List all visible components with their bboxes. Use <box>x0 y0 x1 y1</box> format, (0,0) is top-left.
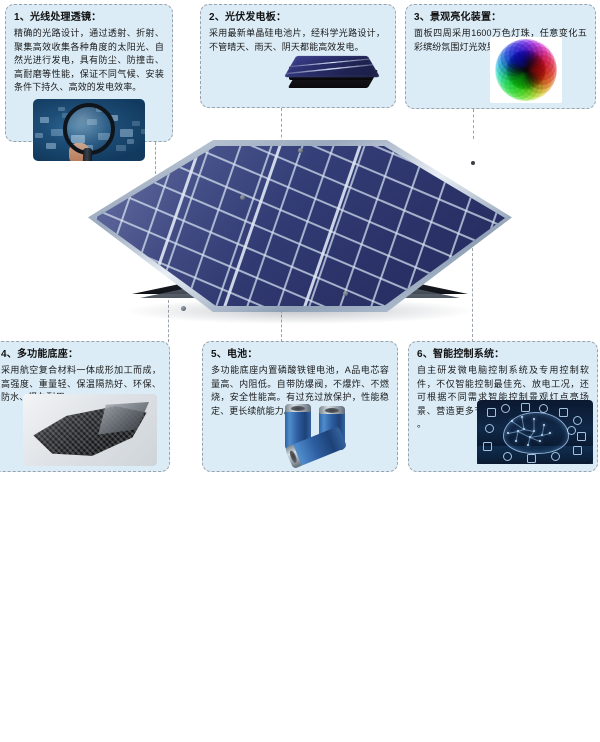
panel-screw <box>298 148 303 153</box>
card-5-title: 5、电池： <box>211 348 389 361</box>
card-6-title: 6、智能控制系统： <box>417 348 589 361</box>
card-2-title: 2、光伏发电板： <box>209 11 387 24</box>
feature-card-2[interactable]: 2、光伏发电板： 采用最新单晶硅电池片，经科学光路设计，不管晴天、雨天、阴天都能… <box>200 4 396 108</box>
iot-device-icon <box>577 432 586 441</box>
magnifier-icon <box>63 103 115 155</box>
rgb-color-wheel-image <box>490 37 562 103</box>
iot-device-icon <box>501 404 510 413</box>
color-wheel-rosette <box>495 39 557 101</box>
connector-card3 <box>473 109 474 139</box>
battery-terminal <box>285 444 302 469</box>
feature-card-4[interactable]: 4、多功能底座： 采用航空复合材料一体成形加工而成，高强度、重量轻、保温隔热好、… <box>0 341 170 472</box>
panel-body <box>88 140 512 312</box>
carbon-fiber-highlight <box>95 402 149 436</box>
card-4-title: 4、多功能底座： <box>0 348 161 361</box>
monocrystalline-solar-cell-image <box>289 48 377 100</box>
panel-screw <box>181 306 186 311</box>
panel-screw <box>343 291 348 296</box>
iot-device-icon <box>573 416 582 425</box>
card-1-body: 精确的光路设计，通过透射、折射、聚集高效收集各种角度的太阳光、自然光进行发电，具… <box>14 27 164 95</box>
feature-card-3[interactable]: 3、景观亮化装置： 面板四周采用1600万色灯珠，任意变化五彩缤纷氛围灯光效果 <box>405 4 596 109</box>
magnifier-over-digital-world-map-image <box>33 99 145 161</box>
hexagonal-solar-panel-illustration <box>88 140 512 340</box>
feature-card-5[interactable]: 5、电池： 多功能底座内置磷酸铁锂电池，A品电芯容量高、内阻低。自带防爆阀，不爆… <box>202 341 398 472</box>
cell-top-surface <box>284 56 380 77</box>
iot-device-icon <box>539 404 548 413</box>
iot-device-icon <box>573 446 582 455</box>
infographic-stage: 1、光线处理透镜： 精确的光路设计，通过透射、折射、聚集高效收集各种角度的太阳光… <box>0 0 600 476</box>
feature-card-6[interactable]: 6、智能控制系统： 自主研发微电脑控制系统及专用控制软件，不仅智能控制最佳充、放… <box>408 341 598 472</box>
iot-device-icon <box>503 452 512 461</box>
card-1-title: 1、光线处理透镜： <box>14 11 164 24</box>
iot-device-icon <box>559 408 568 417</box>
iot-device-icon <box>551 452 560 461</box>
panel-screw <box>240 195 245 200</box>
battery-terminal <box>285 404 311 412</box>
iot-device-icon <box>485 424 494 433</box>
iot-device-icon <box>521 403 530 412</box>
iot-device-icon <box>483 442 492 451</box>
iot-device-icon <box>527 454 536 463</box>
carbon-fiber-base-image <box>23 394 157 466</box>
battery-terminal <box>319 406 345 414</box>
panel-gloss <box>95 146 505 306</box>
iot-device-icon <box>487 408 496 417</box>
network-link <box>534 420 535 432</box>
feature-card-1[interactable]: 1、光线处理透镜： 精确的光路设计，通过透射、折射、聚集高效收集各种角度的太阳光… <box>5 4 173 142</box>
ai-brain-network-image <box>477 400 593 464</box>
iot-device-icon <box>567 426 576 435</box>
lithium-battery-cells-image <box>279 404 391 468</box>
card-3-title: 3、景观亮化装置： <box>414 11 587 24</box>
